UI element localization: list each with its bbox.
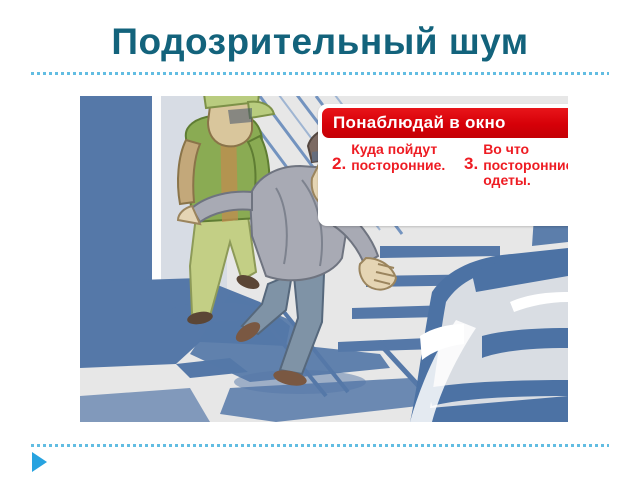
overlay-card-header-text: Понаблюдай в окно — [322, 113, 506, 133]
overlay-card: Понаблюдай в окно 2. Куда пойдут посторо… — [318, 104, 568, 226]
list-item: 3. Во что посторонние одеты. — [464, 142, 568, 189]
divider-bottom — [31, 444, 609, 447]
overlay-card-header: Понаблюдай в окно — [322, 108, 568, 138]
page-title: Подозрительный шум — [30, 14, 610, 68]
divider-top — [31, 72, 609, 75]
list-item-label: Во что посторонние одеты. — [483, 142, 568, 189]
list-item: 2. Куда пойдут посторонние. — [332, 142, 456, 173]
slide-root: Подозрительный шум — [0, 0, 640, 480]
play-triangle-icon[interactable] — [32, 452, 47, 472]
list-item-number: 2. — [332, 142, 351, 173]
list-item-label: Куда пойдут посторонние. — [351, 142, 445, 173]
overlay-card-body: 2. Куда пойдут посторонние. 3. Во что по… — [318, 142, 568, 226]
page-title-text: Подозрительный шум — [111, 23, 528, 60]
list-item-number: 3. — [464, 142, 483, 173]
illustration: Понаблюдай в окно 2. Куда пойдут посторо… — [80, 96, 568, 422]
